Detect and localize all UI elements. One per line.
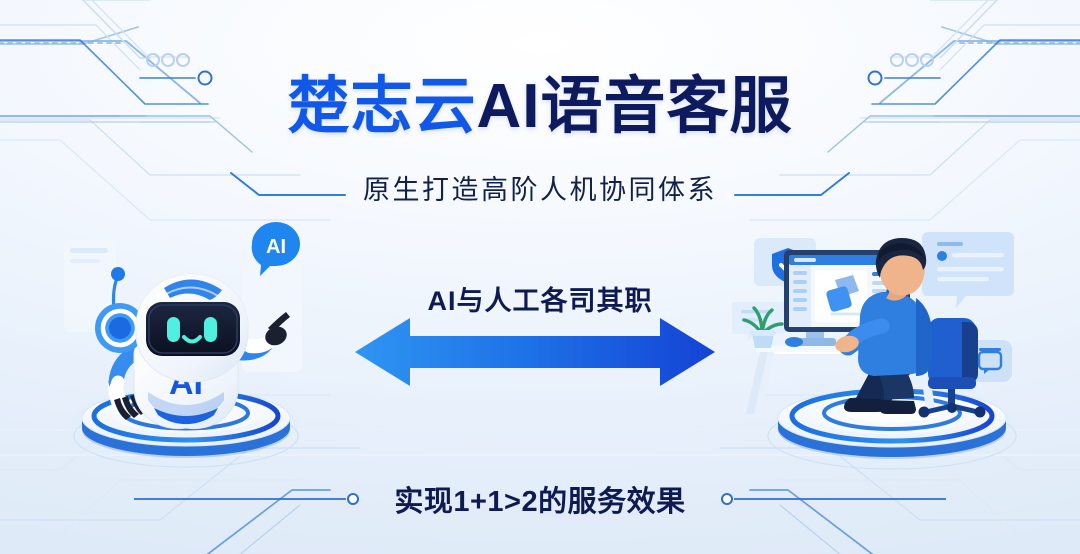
title-brand: 楚志云 bbox=[287, 72, 476, 141]
banner-canvas: AI bbox=[0, 0, 1080, 554]
title-block: 楚志云AI语音客服 bbox=[0, 74, 1080, 139]
subtitle-right-decoration bbox=[731, 171, 851, 205]
bottom-left-connector bbox=[134, 487, 364, 511]
page-title: 楚志云AI语音客服 bbox=[0, 74, 1080, 139]
center-caption-wrap: AI与人工各司其职 bbox=[0, 279, 1080, 318]
subtitle-left-decoration bbox=[229, 171, 349, 205]
bottom-right-connector bbox=[716, 487, 946, 511]
page-subtitle: 原生打造高阶人机协同体系 bbox=[363, 168, 717, 207]
subtitle-row: 原生打造高阶人机协同体系 bbox=[0, 168, 1080, 207]
bottom-caption: 实现1+1>2的服务效果 bbox=[364, 478, 715, 520]
center-caption: AI与人工各司其职 bbox=[428, 286, 653, 316]
title-product: AI语音客服 bbox=[477, 72, 793, 141]
bottom-caption-row: 实现1+1>2的服务效果 bbox=[0, 478, 1080, 520]
